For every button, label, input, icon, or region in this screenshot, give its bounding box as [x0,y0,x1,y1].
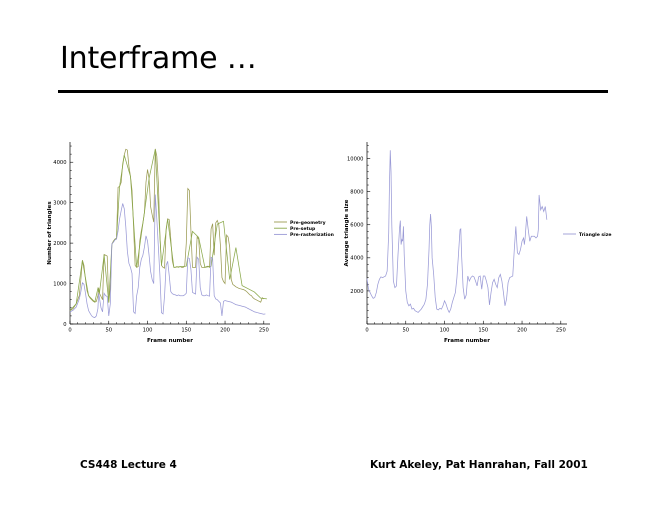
chart-right-canvas: 050100150200250Frame number2000400060008… [325,130,645,360]
y-tick-label: 4000 [350,256,363,262]
y-tick-label: 10000 [347,156,364,162]
x-tick-label: 50 [402,328,409,334]
series-line-pre-geometry [70,149,264,311]
x-axis-title: Frame number [147,338,193,344]
series-line-pre-setup [70,149,267,310]
x-tick-label: 100 [143,328,153,334]
footer-lecture-label: CS448 Lecture 4 [80,459,177,471]
chart-number-of-triangles: 050100150200250Frame number0100020003000… [30,130,340,360]
page-title: Interframe … [60,41,257,76]
x-tick-label: 250 [556,328,566,334]
legend-label-pre-setup: Pre-setup [290,226,316,232]
legend-label-pre-geometry: Pre-geometry [290,220,326,226]
y-tick-label: 2000 [350,289,363,295]
y-tick-label: 4000 [53,160,66,166]
y-tick-label: 8000 [350,190,363,196]
y-tick-label: 6000 [350,223,363,229]
y-tick-label: 1000 [53,281,66,287]
title-divider [58,90,608,93]
chart-average-triangle-size: 050100150200250Frame number2000400060008… [325,130,645,360]
x-tick-label: 200 [517,328,527,334]
x-tick-label: 150 [478,328,488,334]
y-axis-title: Average triangle size [344,199,350,266]
series-line-pre-rasterization [70,195,265,318]
x-axis-title: Frame number [444,338,490,344]
x-tick-label: 0 [365,328,368,334]
series-line-triangle-size [367,150,547,312]
y-tick-label: 3000 [53,201,66,207]
x-tick-label: 100 [440,328,450,334]
legend-label-triangle-size: Triangle size [579,232,612,238]
x-tick-label: 0 [68,328,71,334]
y-tick-label: 2000 [53,241,66,247]
x-tick-label: 50 [105,328,112,334]
y-tick-label: 0 [63,322,66,328]
x-tick-label: 200 [220,328,230,334]
x-tick-label: 150 [181,328,191,334]
x-tick-label: 250 [259,328,269,334]
slide: Interframe … 050100150200250Frame number… [0,0,660,510]
chart-left-canvas: 050100150200250Frame number0100020003000… [30,130,340,360]
footer-authors-label: Kurt Akeley, Pat Hanrahan, Fall 2001 [370,459,588,471]
y-axis-title: Number of triangles [47,201,53,265]
